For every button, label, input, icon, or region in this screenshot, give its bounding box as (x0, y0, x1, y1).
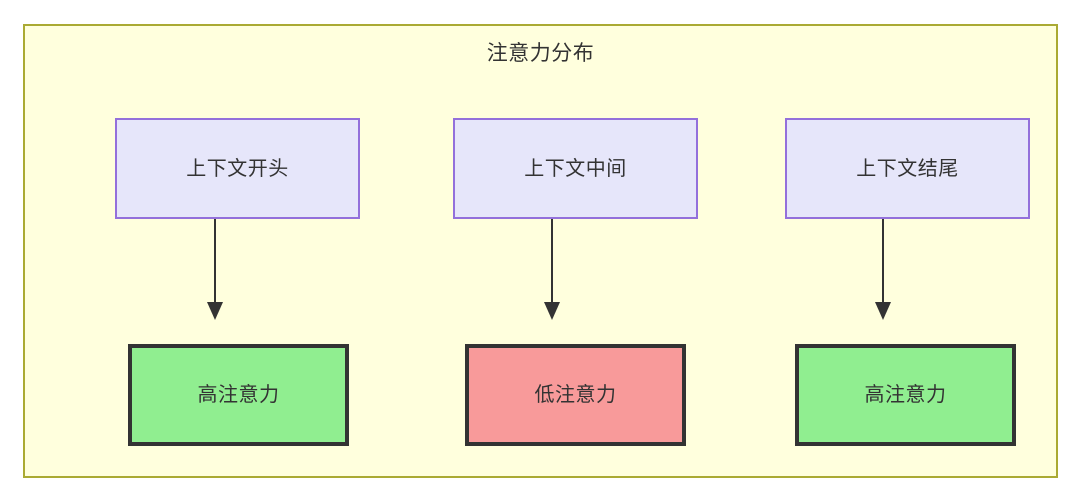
diagram-canvas: 注意力分布 上下文开头 上下文中间 (0, 0, 1080, 496)
node-context-end-label: 上下文结尾 (856, 159, 959, 179)
node-attention-low-middle[interactable]: 低注意力 (465, 344, 686, 446)
node-context-end[interactable]: 上下文结尾 (785, 118, 1030, 219)
node-attention-high-end-label: 高注意力 (865, 385, 947, 405)
node-context-middle-label: 上下文中间 (524, 159, 627, 179)
node-attention-high-end[interactable]: 高注意力 (795, 344, 1016, 446)
node-context-start[interactable]: 上下文开头 (115, 118, 360, 219)
node-context-middle[interactable]: 上下文中间 (453, 118, 698, 219)
node-attention-low-middle-label: 低注意力 (535, 385, 617, 405)
node-context-start-label: 上下文开头 (186, 159, 289, 179)
node-attention-high-start-label: 高注意力 (198, 385, 280, 405)
node-attention-high-start[interactable]: 高注意力 (128, 344, 349, 446)
subgraph-title: 注意力分布 (25, 43, 1056, 64)
subgraph-container: 注意力分布 上下文开头 上下文中间 (23, 24, 1058, 478)
